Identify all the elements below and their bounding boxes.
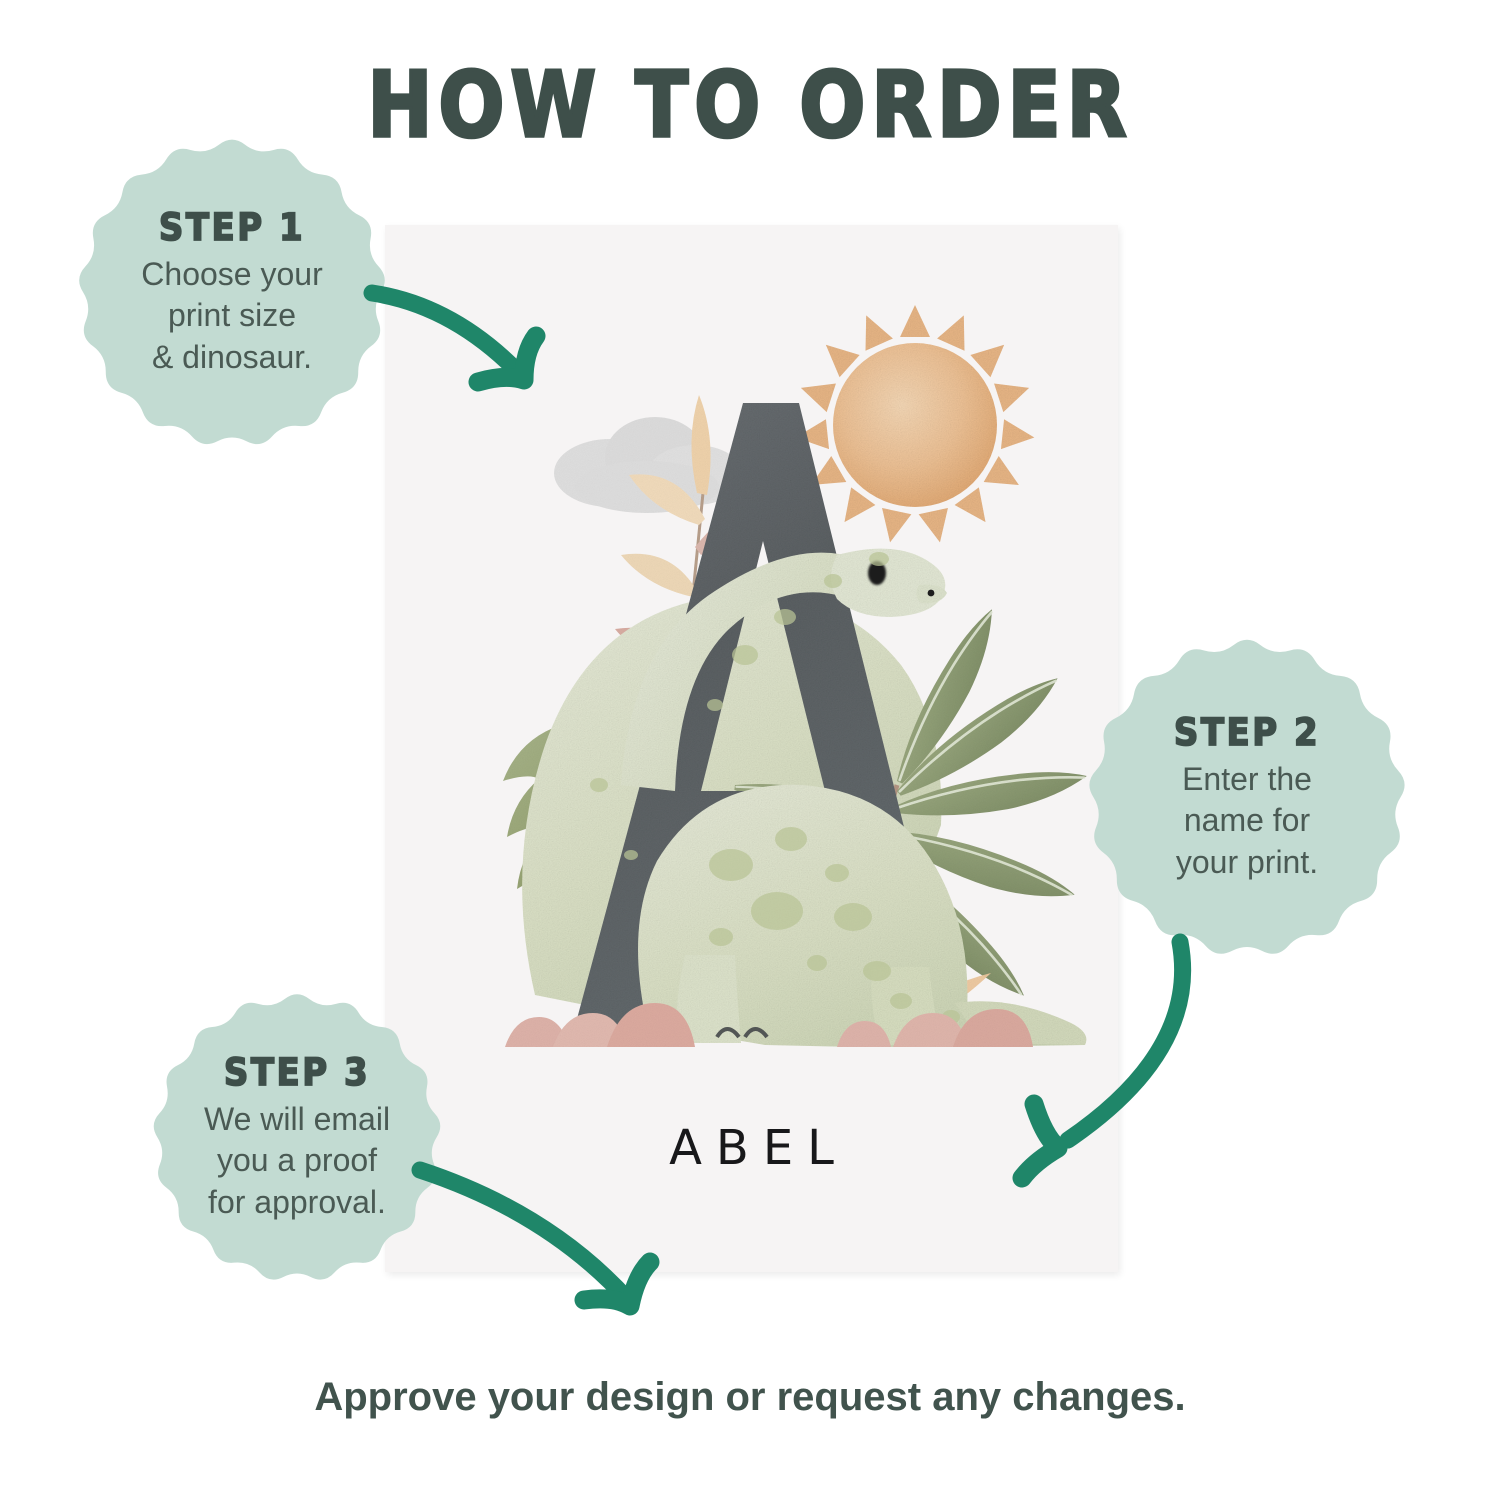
print-preview-poster[interactable]: ABEL xyxy=(385,225,1118,1272)
step-badge-1[interactable]: STEP 1 Choose your print size & dinosaur… xyxy=(72,132,392,454)
step-badge-2-label: STEP 2 xyxy=(1174,711,1320,755)
poster-artwork xyxy=(385,225,1118,1105)
dinosaur-nostril xyxy=(928,590,935,597)
step-badge-1-label: STEP 1 xyxy=(141,206,322,250)
step-badge-1-body: Choose your print size & dinosaur. xyxy=(141,254,322,379)
step-badge-1-content: STEP 1 Choose your print size & dinosaur… xyxy=(101,208,362,379)
step-badge-2[interactable]: STEP 2 Enter the name for your print. xyxy=(1082,632,1412,964)
infographic-canvas: HOW TO ORDER xyxy=(0,0,1500,1500)
step-badge-2-body: Enter the name for your print. xyxy=(1174,759,1320,884)
step-badge-3[interactable]: STEP 3 We will email you a proof for app… xyxy=(132,988,462,1288)
poster-name-text: ABEL xyxy=(385,1120,1118,1176)
step-badge-3-body: We will email you a proof for approval. xyxy=(204,1099,390,1224)
bottom-caption: Approve your design or request any chang… xyxy=(0,1375,1500,1420)
step-badge-2-content: STEP 2 Enter the name for your print. xyxy=(1134,713,1360,884)
step-badge-3-label: STEP 3 xyxy=(204,1051,390,1095)
step-badge-3-content: STEP 3 We will email you a proof for app… xyxy=(164,1053,430,1224)
